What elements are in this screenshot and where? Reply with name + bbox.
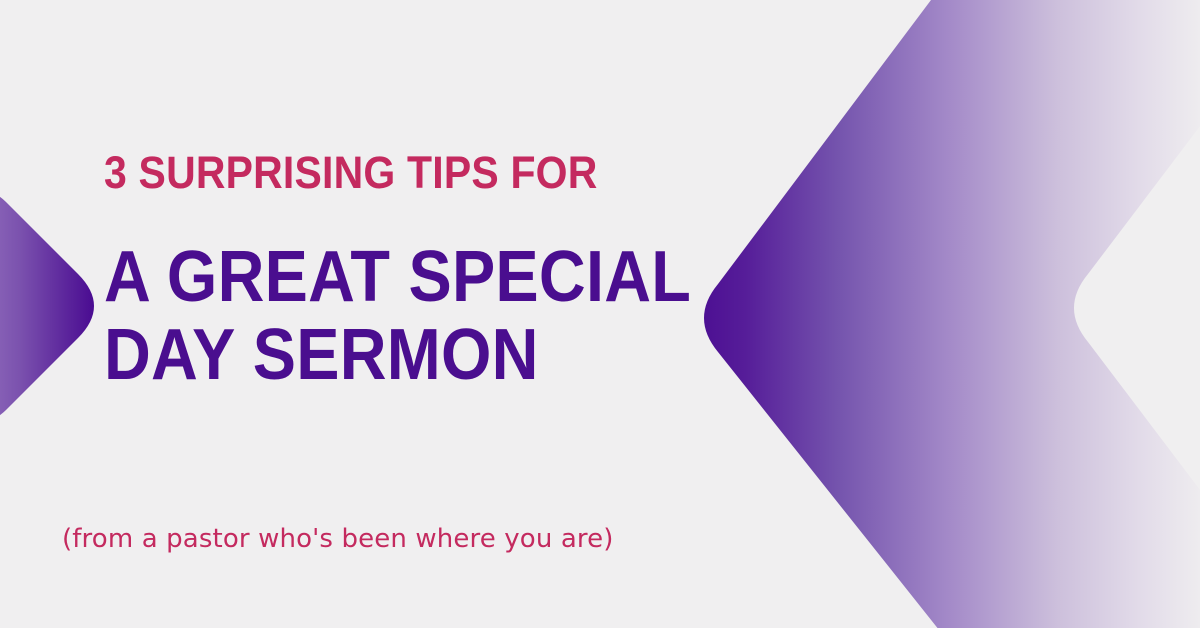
headline-line-1: A GREAT SPECIAL	[104, 238, 691, 316]
main-chevron-shape	[704, 0, 1200, 628]
subtitle-text: (from a pastor who's been where you are)	[62, 522, 614, 556]
banner-canvas: 3 SURPRISING TIPS FOR A GREAT SPECIAL DA…	[0, 0, 1200, 628]
page-title: A GREAT SPECIAL DAY SERMON	[104, 238, 691, 394]
headline-line-2: DAY SERMON	[104, 316, 691, 394]
edge-chevron-shape	[0, 190, 94, 422]
eyebrow-text: 3 SURPRISING TIPS FOR	[104, 148, 598, 198]
text-block: 3 SURPRISING TIPS FOR A GREAT SPECIAL DA…	[104, 0, 724, 628]
